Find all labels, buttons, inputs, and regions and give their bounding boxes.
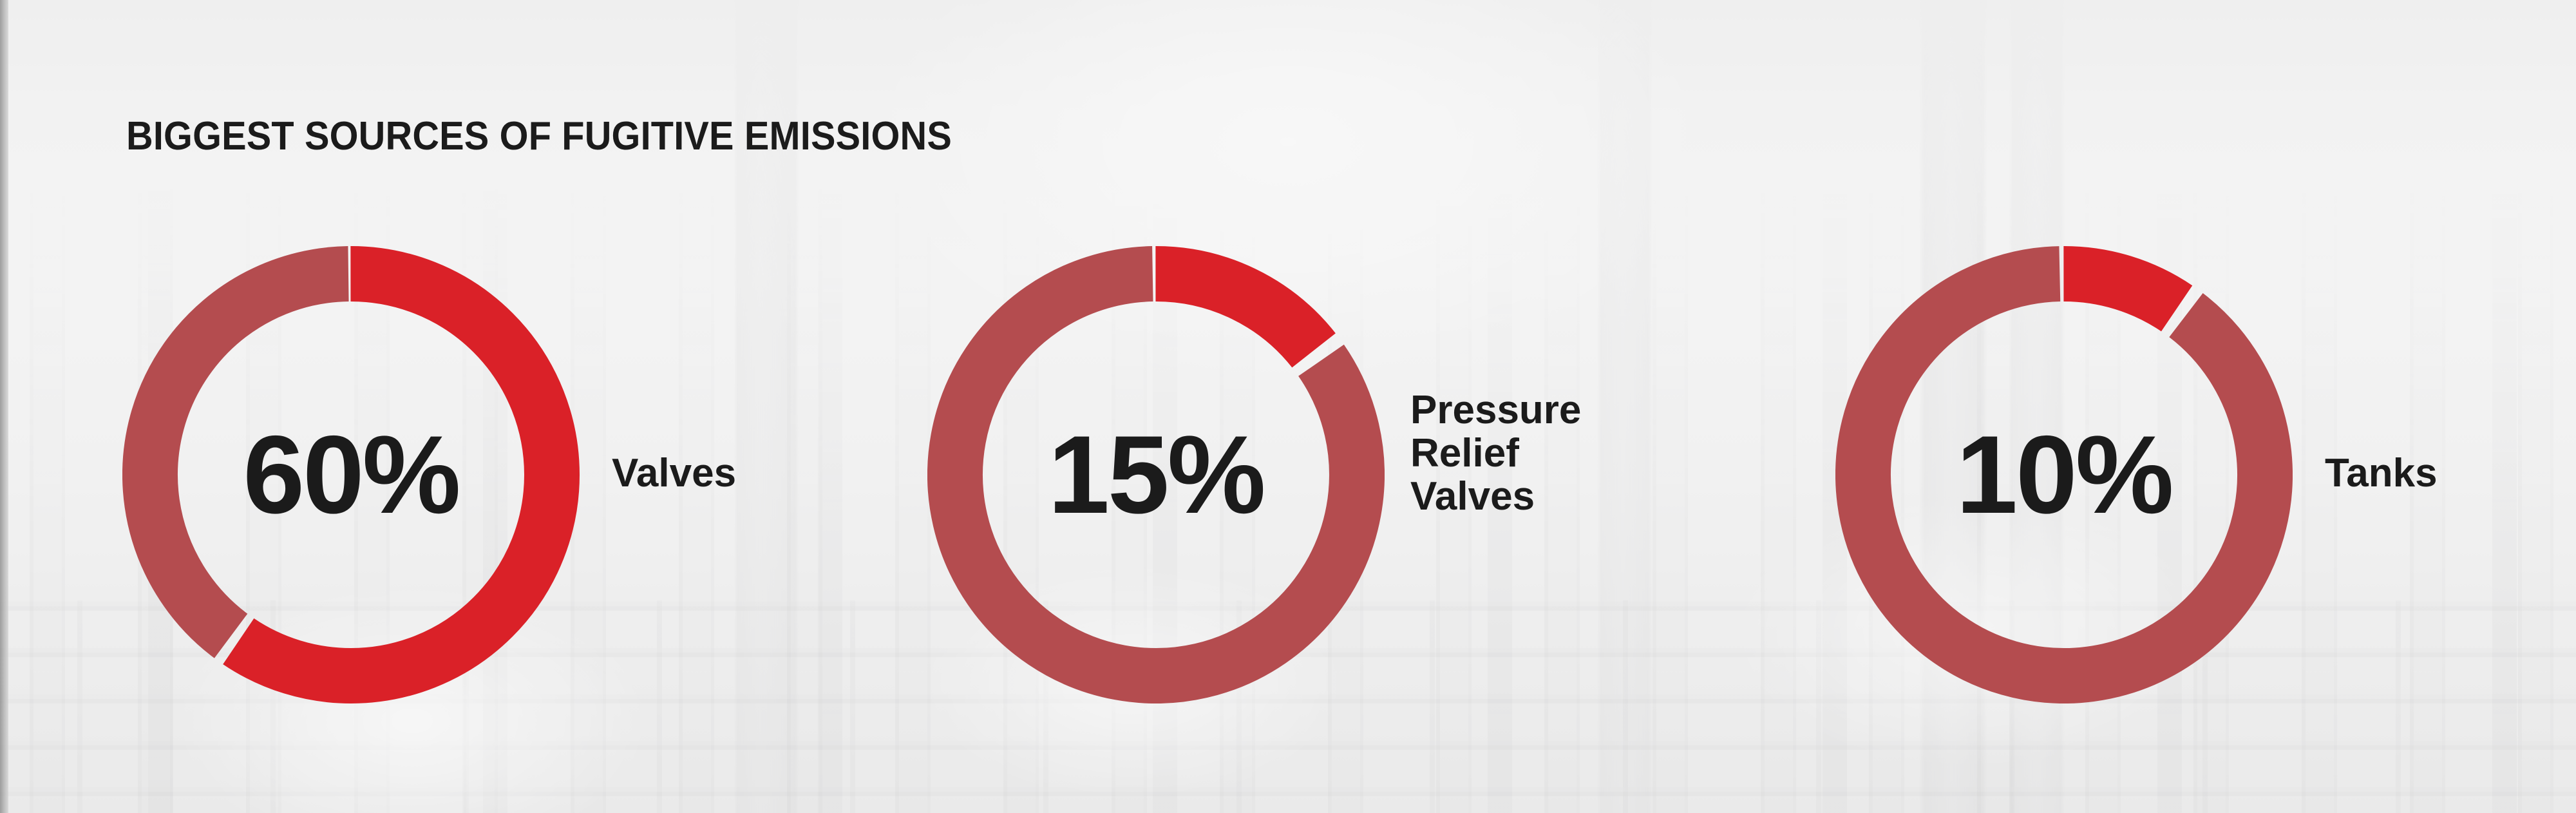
donut-chart-pressure-relief-valves: 15% Pressure Relief Valves — [927, 246, 1385, 703]
donut-ring: 15% — [927, 246, 1385, 703]
donut-ring: 10% — [1835, 246, 2293, 703]
donut-percent-label: 10% — [1835, 246, 2293, 703]
infographic-canvas: BIGGEST SOURCES OF FUGITIVE EMISSIONS 60… — [0, 0, 2576, 813]
donut-category-label: Tanks — [2325, 452, 2438, 495]
donut-chart-tanks: 10% Tanks — [1835, 246, 2293, 703]
donut-category-label: Pressure Relief Valves — [1410, 389, 1581, 519]
page-title: BIGGEST SOURCES OF FUGITIVE EMISSIONS — [126, 113, 952, 159]
donut-ring: 60% — [122, 246, 580, 703]
donut-category-label: Valves — [612, 452, 736, 495]
donut-chart-valves: 60% Valves — [122, 246, 580, 703]
donut-percent-label: 15% — [927, 246, 1385, 703]
donut-percent-label: 60% — [122, 246, 580, 703]
